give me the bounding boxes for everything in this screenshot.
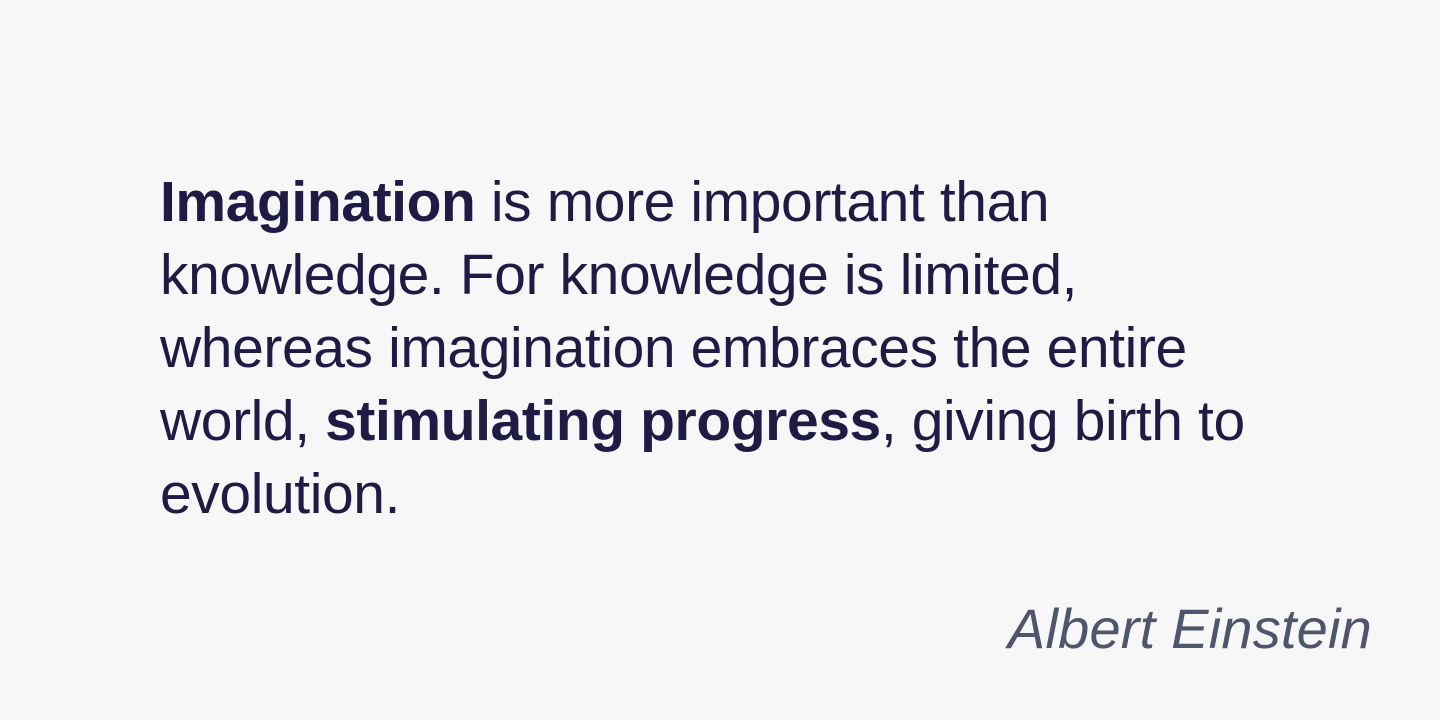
- quote-text: Imagination is more important than knowl…: [160, 166, 1300, 531]
- quote-emphasis-stimulating-progress: stimulating progress: [325, 389, 881, 453]
- quote-block: Imagination is more important than knowl…: [160, 166, 1300, 531]
- attribution-author-name: Albert Einstein: [1008, 594, 1372, 664]
- attribution-row: Albert Einstein: [0, 594, 1372, 664]
- quote-emphasis-imagination: Imagination: [160, 170, 475, 234]
- quote-card: Imagination is more important than knowl…: [0, 0, 1440, 720]
